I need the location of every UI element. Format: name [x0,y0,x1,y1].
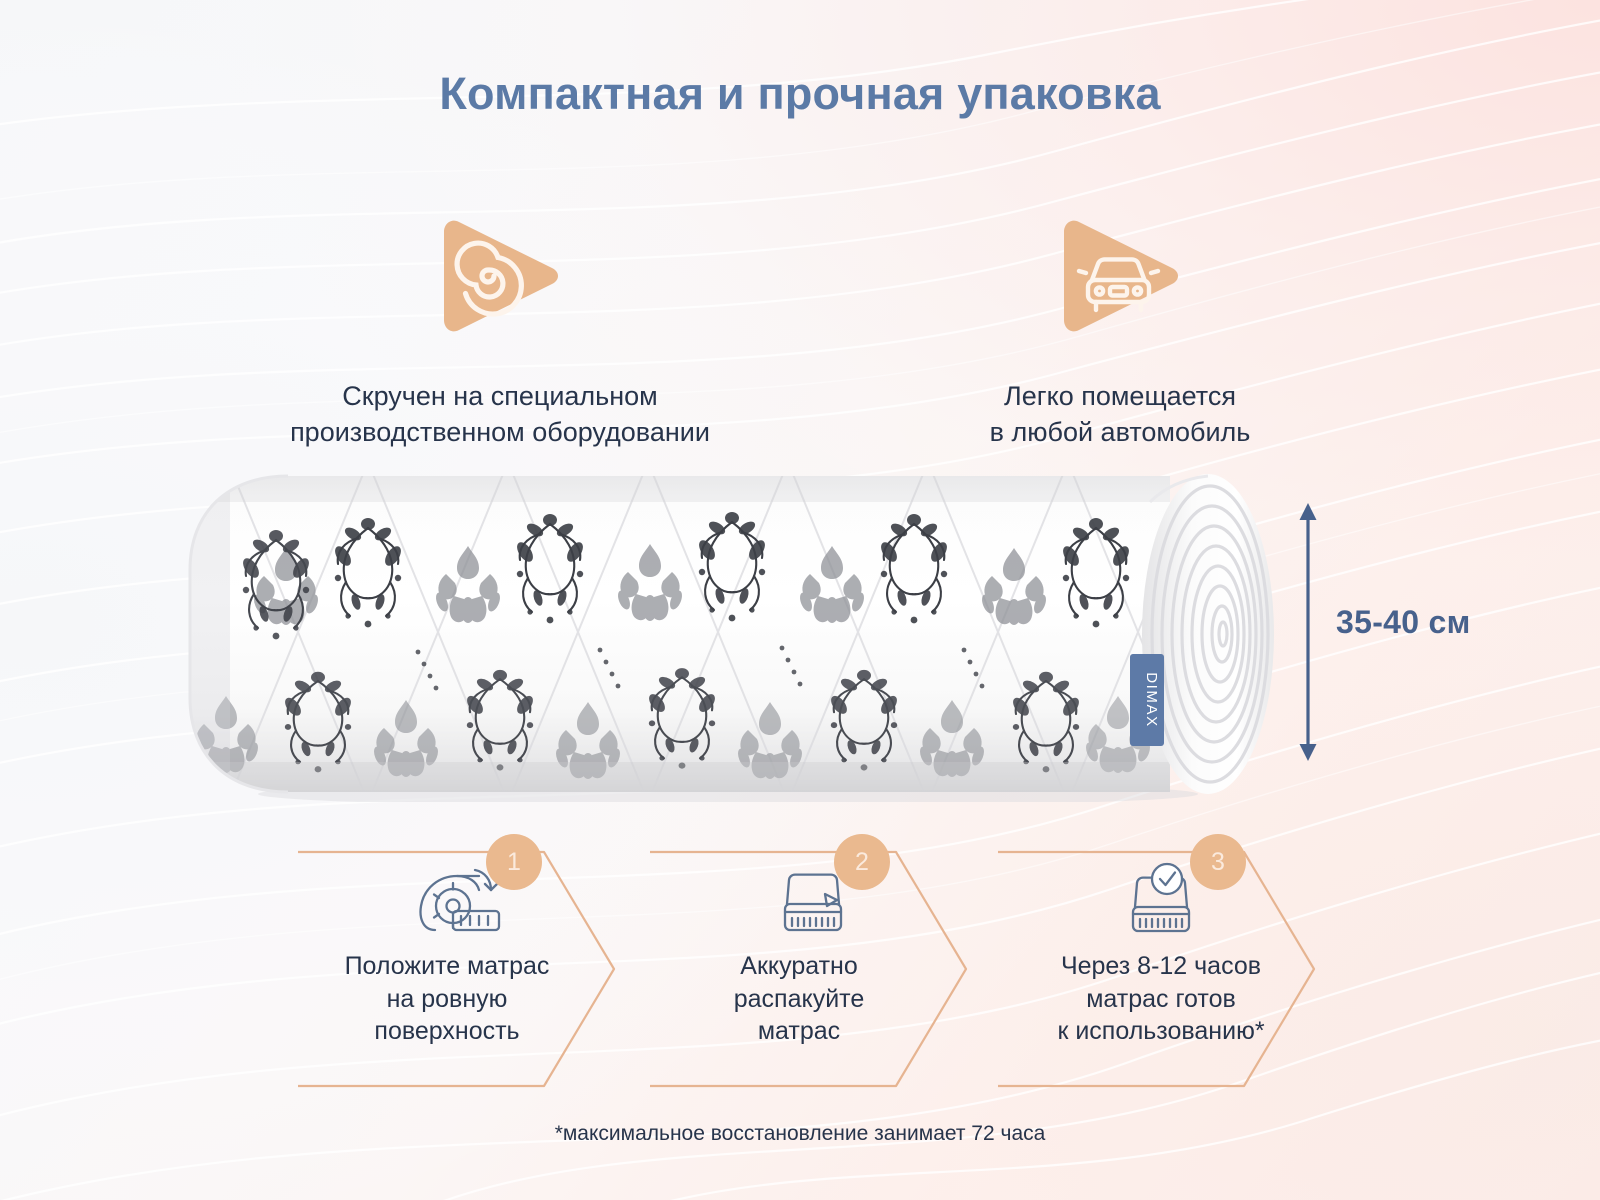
feature-badge-2 [905,196,1335,356]
step-3-line-2: матрас готов [1018,983,1304,1016]
spiral-roll-icon [426,202,574,350]
feature-caption-1: Скручен на специальном производственном … [228,378,772,450]
feature-caption-2-line-1: Легко помещается [905,378,1335,414]
step-2-line-2: распакуйте [656,983,942,1016]
mattress-check-icon [1121,859,1201,941]
step-card-3[interactable]: Через 8-12 часов матрас готов к использо… [996,846,1326,1092]
step-2-text: Аккуратно распакуйте матрас [656,950,942,1048]
step-1-icon-wrap [296,858,626,942]
step-2-line-3: матрас [656,1015,942,1048]
step-3-text: Через 8-12 часов матрас готов к использо… [1018,950,1304,1048]
step-3-line-1: Через 8-12 часов [1018,950,1304,983]
step-card-1[interactable]: Положите матрас на ровную поверхность 1 [296,846,626,1092]
feature-spiral-production: Скручен на специальном производственном … [228,196,772,450]
feature-caption-1-line-2: производственном оборудовании [228,414,772,450]
feature-caption-2: Легко помещается в любой автомобиль [905,378,1335,450]
step-2-number: 2 [834,834,890,890]
step-1-text: Положите матрас на ровную поверхность [304,950,590,1048]
step-card-2[interactable]: Аккуратно распакуйте матрас 2 [648,846,978,1092]
rolled-mattress-photo: DIMAX [168,462,1278,802]
steps-row: Положите матрас на ровную поверхность 1 [296,846,1308,1092]
step-1-line-1: Положите матрас [304,950,590,983]
step-1-number: 1 [486,834,542,890]
step-1-line-3: поверхность [304,1015,590,1048]
footnote: *максимальное восстановление занимает 72… [0,1122,1600,1146]
feature-fits-any-car: Легко помещается в любой автомобиль [905,196,1335,450]
step-3-line-3: к использованию* [1018,1015,1304,1048]
step-1-line-2: на ровную [304,983,590,1016]
step-3-icon-wrap [996,858,1326,942]
brand-label: DIMAX [1130,654,1164,746]
feature-badge-1 [228,196,772,356]
dimension-label: 35-40 см [1336,604,1471,641]
step-2-line-1: Аккуратно [656,950,942,983]
car-front-icon [1046,202,1194,350]
step-2-icon-wrap [648,858,978,942]
infographic-canvas: Компактная и прочная упаковка Скручен на… [0,0,1600,1200]
feature-caption-1-line-1: Скручен на специальном [228,378,772,414]
feature-caption-2-line-2: в любой автомобиль [905,414,1335,450]
page-title: Компактная и прочная упаковка [0,68,1600,120]
dimension-indicator: 35-40 см [1292,498,1532,766]
svg-text:DIMAX: DIMAX [1143,672,1160,728]
step-3-number: 3 [1190,834,1246,890]
